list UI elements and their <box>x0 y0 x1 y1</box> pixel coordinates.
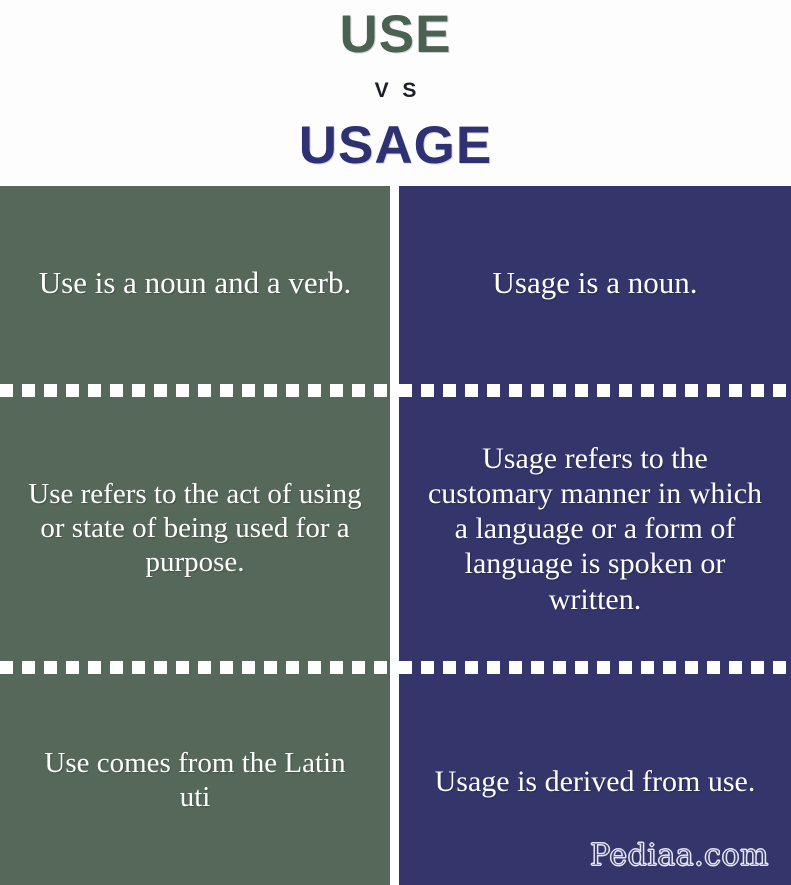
comparison-cell-use-3: Use comes from the Latin uti <box>0 678 390 885</box>
comparison-text-use-1: Use is a noun and a verb. <box>26 265 364 301</box>
comparison-columns: Use is a noun and a verb. Use refers to … <box>0 186 791 885</box>
comparison-cell-usage-2: Usage refers to the customary manner in … <box>399 400 791 657</box>
column-separator-gap <box>390 186 399 885</box>
comparison-cell-use-1: Use is a noun and a verb. <box>0 186 390 380</box>
page-title-term-b: USAGE <box>299 103 492 172</box>
comparison-text-use-2: Use refers to the act of using or state … <box>26 478 364 580</box>
comparison-cell-use-2: Use refers to the act of using or state … <box>0 400 390 657</box>
comparison-cell-usage-1: Usage is a noun. <box>399 186 791 380</box>
comparison-text-usage-1: Usage is a noun. <box>425 265 765 301</box>
page-title-term-a: USE <box>340 2 452 61</box>
comparison-column-use: Use is a noun and a verb. Use refers to … <box>0 186 390 885</box>
versus-separator-label: V S <box>371 61 421 103</box>
comparison-text-usage-2: Usage refers to the customary manner in … <box>425 441 765 616</box>
row-divider-left-1 <box>0 380 390 400</box>
comparison-text-use-3: Use comes from the Latin uti <box>26 747 364 815</box>
row-divider-right-1 <box>399 380 791 400</box>
comparison-text-usage-3: Usage is derived from use. <box>425 764 765 799</box>
comparison-cell-usage-3: Usage is derived from use. <box>399 678 791 885</box>
row-divider-left-2 <box>0 658 390 678</box>
row-divider-right-2 <box>399 658 791 678</box>
title-block: USE V S USAGE <box>0 0 791 186</box>
infographic-root: USE V S USAGE Use is a noun and a verb. … <box>0 0 791 885</box>
comparison-column-usage: Usage is a noun. Usage refers to the cus… <box>399 186 791 885</box>
